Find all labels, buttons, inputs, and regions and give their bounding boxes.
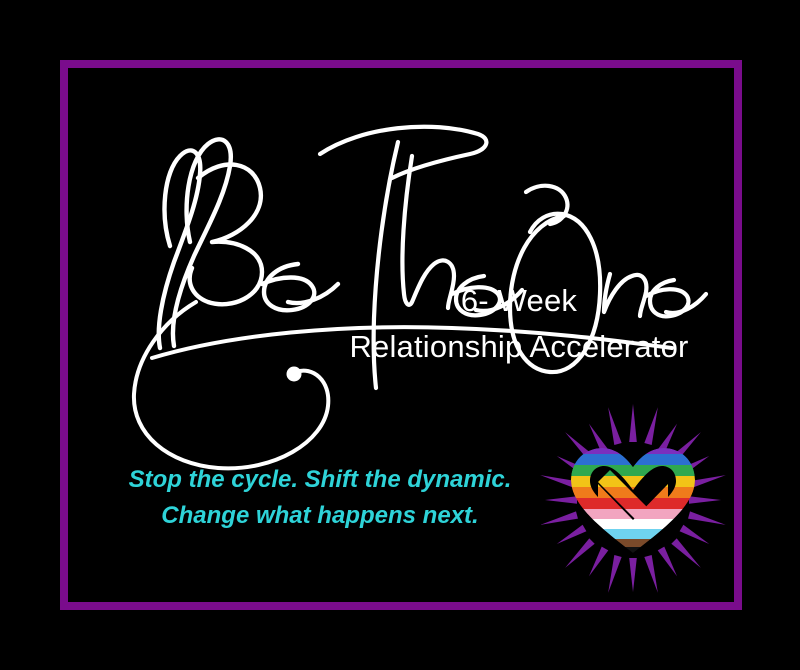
tagline-block: Stop the cycle. Shift the dynamic. Chang… xyxy=(95,462,545,534)
poster-canvas: Be The One xyxy=(0,0,800,670)
subtitle-line-2: Relationship Accelerator xyxy=(330,324,708,370)
pride-heart-icon xyxy=(538,398,728,593)
subtitle-line-1: 6- Week xyxy=(330,278,708,324)
tagline-line-2: Change what happens next. xyxy=(95,498,545,534)
subtitle-block: 6- Week Relationship Accelerator xyxy=(330,278,708,370)
heart-stripes xyxy=(558,442,708,559)
tagline-line-1: Stop the cycle. Shift the dynamic. xyxy=(95,462,545,498)
